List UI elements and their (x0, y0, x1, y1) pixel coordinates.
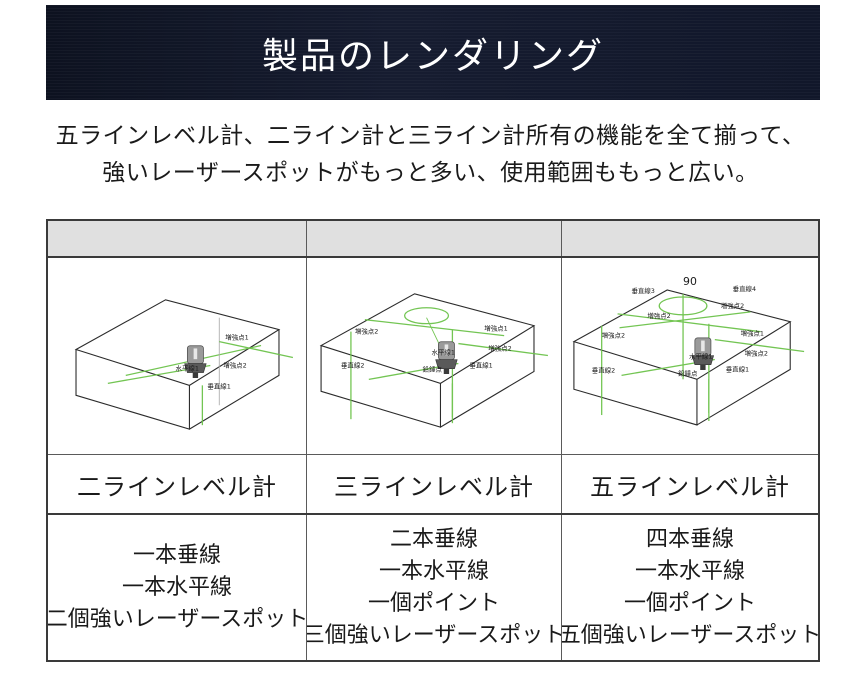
spec-line: 二本垂線 (390, 524, 478, 556)
product-name: 五ラインレベル計 (590, 467, 790, 502)
diagram-label: 鉛錘点 (423, 364, 443, 373)
name-cell-three-line: 三ラインレベル計 (307, 455, 562, 513)
spec-line: 一個ポイント (368, 588, 500, 620)
diagram-labels: 増強点2 垂直線2 増強点1 水平線1 増強点2 鉛錘点 垂直線1 (341, 324, 512, 374)
diagram-label: 垂直線1 (469, 360, 492, 369)
diagram-label: 垂直線1 (726, 364, 749, 373)
diagram-label: 垂直線4 (733, 284, 756, 293)
spec-line: 五個強いレーザースポット (562, 620, 818, 652)
spec-line: 一本水平線 (122, 572, 232, 604)
diagram-label: 増強点1 (484, 324, 507, 333)
table-diagram-row: 増強点1 増強点2 水平線1 垂直線1 (48, 258, 818, 455)
subtitle-line-2: 強いレーザースポットがもっと多い、使用範囲ももっと広い。 (0, 155, 861, 192)
subtitle-block: 五ラインレベル計、二ライン計と三ライン計所有の機能を全て揃って、 強いレーザース… (0, 118, 861, 192)
diagram-label: 増強点2 (488, 344, 511, 353)
diagram-two-line: 増強点1 増強点2 水平線1 垂直線1 (48, 258, 306, 454)
diagram-label-angle: 90 (683, 275, 697, 288)
spec-line: 三個強いレーザースポット (307, 620, 562, 652)
spec-cell-three-line: 二本垂線 一本水平線 一個ポイント 三個強いレーザースポット (307, 515, 562, 660)
laser-device (185, 346, 206, 378)
diagram-label: 増強点2 (745, 349, 768, 358)
product-name: 二ラインレベル計 (77, 467, 277, 502)
diagram-label: 増強点2 (647, 311, 670, 320)
spec-line: 二個強いレーザースポット (48, 604, 307, 636)
table-name-row: 二ラインレベル計 三ラインレベル計 五ラインレベル計 (48, 455, 818, 515)
product-comparison-table: 増強点1 増強点2 水平線1 垂直線1 (46, 219, 820, 662)
subtitle-line-1: 五ラインレベル計、二ライン計と三ライン計所有の機能を全て揃って、 (0, 118, 861, 155)
name-cell-five-line: 五ラインレベル計 (562, 455, 818, 513)
diagram-label: 垂直線1 (207, 381, 230, 390)
spec-line: 一本水平線 (635, 556, 745, 588)
diagram-labels: 垂直線3 90 垂直線4 増強点2 増強点2 増強点2 垂直線2 増強点1 水平… (592, 275, 768, 377)
diagram-label: 垂直線3 (631, 286, 654, 295)
diagram-cell-five-line: 垂直線3 90 垂直線4 増強点2 増強点2 増強点2 垂直線2 増強点1 水平… (562, 258, 818, 454)
product-name: 三ラインレベル計 (334, 467, 534, 502)
spec-line: 四本垂線 (646, 524, 734, 556)
diagram-label: 垂直線2 (592, 365, 615, 374)
table-header-row (48, 221, 818, 258)
header-banner: 製品のレンダリング (46, 5, 820, 100)
diagram-label: 水平線1 (432, 348, 455, 357)
spec-line: 一個ポイント (624, 588, 756, 620)
spec-line: 一本水平線 (379, 556, 489, 588)
diagram-label: 増強点2 (721, 301, 744, 310)
diagram-label: 増強点2 (602, 331, 625, 340)
diagram-label: 増強点1 (225, 333, 248, 342)
diagram-three-line: 増強点2 垂直線2 増強点1 水平線1 増強点2 鉛錘点 垂直線1 (307, 258, 561, 454)
diagram-cell-two-line: 増強点1 増強点2 水平線1 垂直線1 (48, 258, 307, 454)
spec-line: 一本垂線 (133, 540, 221, 572)
header-cell-1 (48, 221, 307, 256)
diagram-label: 水平線1 (689, 351, 712, 360)
spec-cell-two-line: 一本垂線 一本水平線 二個強いレーザースポット (48, 515, 307, 660)
diagram-label: 増強点1 (741, 329, 764, 338)
diagram-five-line: 垂直線3 90 垂直線4 増強点2 増強点2 増強点2 垂直線2 増強点1 水平… (562, 258, 818, 454)
header-cell-2 (307, 221, 562, 256)
diagram-label: 水平線1 (176, 363, 199, 372)
diagram-cell-three-line: 増強点2 垂直線2 増強点1 水平線1 増強点2 鉛錘点 垂直線1 (307, 258, 562, 454)
diagram-label: 増強点2 (355, 327, 378, 336)
diagram-label: 増強点2 (223, 360, 246, 369)
page-title: 製品のレンダリング (262, 27, 604, 79)
table-spec-row: 一本垂線 一本水平線 二個強いレーザースポット 二本垂線 一本水平線 一個ポイン… (48, 515, 818, 660)
name-cell-two-line: 二ラインレベル計 (48, 455, 307, 513)
diagram-label: 鉛錘点 (678, 368, 698, 377)
diagram-label: 垂直線2 (341, 360, 364, 369)
spec-cell-five-line: 四本垂線 一本水平線 一個ポイント 五個強いレーザースポット (562, 515, 818, 660)
header-cell-3 (562, 221, 818, 256)
